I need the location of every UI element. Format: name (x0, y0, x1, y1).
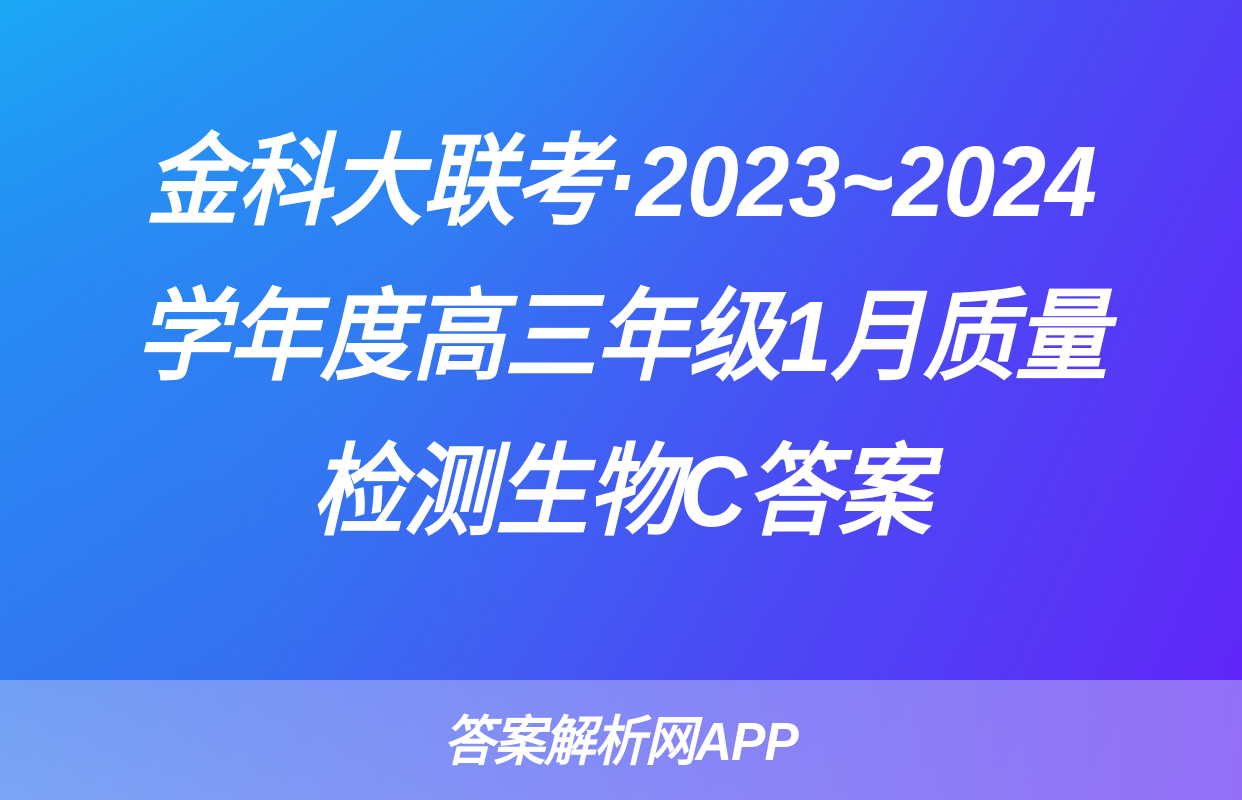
exam-answer-cover-poster: 金科大联考·2023~2024 学年度高三年级1月质量 检测生物C答案 答案解析… (0, 0, 1242, 800)
poster-title-line-3: 检测生物C答案 (312, 415, 931, 570)
poster-title-line-1: 金科大联考·2023~2024 (146, 105, 1096, 260)
app-watermark-label: 答案解析网APP (444, 715, 798, 769)
hero-gradient-panel: 金科大联考·2023~2024 学年度高三年级1月质量 检测生物C答案 (0, 0, 1242, 680)
poster-title-block: 金科大联考·2023~2024 学年度高三年级1月质量 检测生物C答案 (0, 0, 1242, 680)
footer-watermark-band: 答案解析网APP (0, 680, 1242, 800)
poster-title-line-2: 学年度高三年级1月质量 (135, 260, 1107, 415)
